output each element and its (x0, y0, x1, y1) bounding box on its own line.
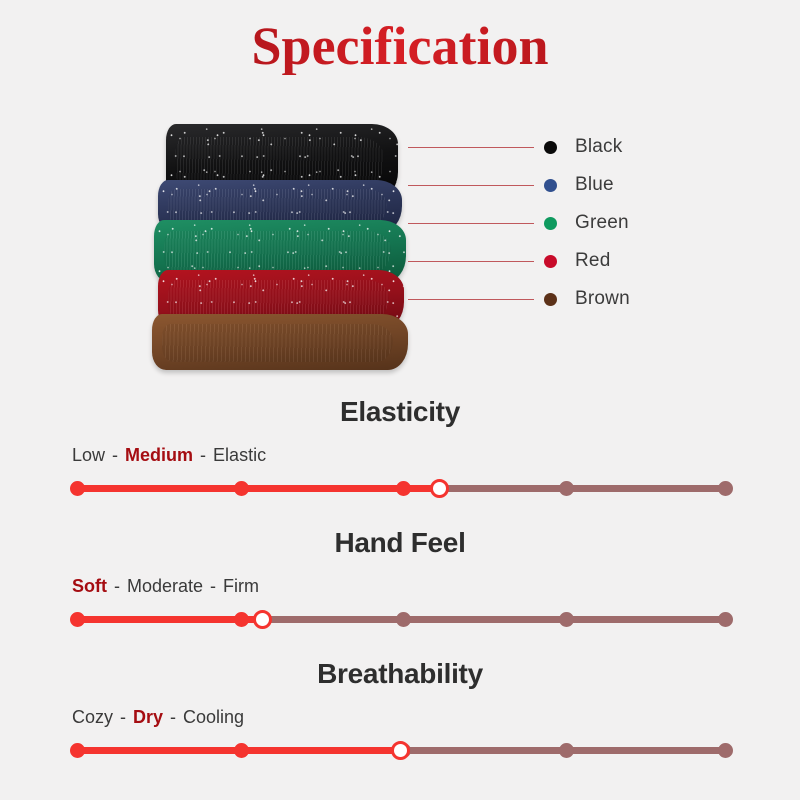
slider-tick-3[interactable] (396, 612, 411, 627)
scale-label-active: Medium (125, 445, 193, 465)
scale-label-active: Soft (72, 576, 107, 596)
leader-line-blue (408, 185, 534, 186)
legend-item-label: Blue (575, 174, 614, 196)
spec-title: Hand Feel (0, 526, 800, 560)
scale-label-left: Low (72, 445, 105, 465)
slider-tick-1[interactable] (70, 481, 85, 496)
slider-tick-2[interactable] (234, 481, 249, 496)
slider-tick-5[interactable] (718, 743, 733, 758)
scale-separator: - (113, 707, 133, 727)
spec-section-elasticity: Elasticity Low - Medium - Elastic (0, 395, 800, 498)
product-color-overview: Black Blue Green Red Brown (0, 110, 800, 370)
scale-separator: - (193, 445, 213, 465)
spec-scale-labels: Low - Medium - Elastic (0, 443, 800, 467)
slider-tick-1[interactable] (70, 612, 85, 627)
legend-item-label: Brown (575, 288, 630, 310)
slider-tick-3[interactable] (396, 481, 411, 496)
scale-label-right: Elastic (213, 445, 266, 465)
spec-section-hand-feel: Hand Feel Soft - Moderate - Firm (0, 526, 800, 629)
spec-section-breathability: Breathability Cozy - Dry - Cooling (0, 657, 800, 760)
scale-label-right: Cooling (183, 707, 244, 727)
elasticity-slider[interactable] (72, 478, 728, 498)
legend-item-label: Red (575, 250, 610, 272)
leader-line-brown (408, 299, 534, 300)
legend-item-label: Green (575, 212, 629, 234)
slider-handle[interactable] (391, 741, 410, 760)
slider-tick-4[interactable] (559, 481, 574, 496)
legend-item-green[interactable]: Green (544, 212, 629, 234)
hand-feel-slider[interactable] (72, 609, 728, 629)
legend-item-blue[interactable]: Blue (544, 174, 614, 196)
legend-item-black[interactable]: Black (544, 136, 622, 158)
scale-separator: - (107, 576, 127, 596)
slider-tick-2[interactable] (234, 612, 249, 627)
leader-line-red (408, 261, 534, 262)
slider-tick-4[interactable] (559, 612, 574, 627)
brown-garment-layer (152, 314, 408, 370)
legend-item-red[interactable]: Red (544, 250, 610, 272)
slider-tick-1[interactable] (70, 743, 85, 758)
leader-line-black (408, 147, 534, 148)
spec-title: Breathability (0, 657, 800, 691)
scale-label-left: Cozy (72, 707, 113, 727)
leader-line-green (408, 223, 534, 224)
color-swatch-icon (544, 293, 557, 306)
slider-tick-2[interactable] (234, 743, 249, 758)
legend-item-label: Black (575, 136, 622, 158)
legend-item-brown[interactable]: Brown (544, 288, 630, 310)
scale-separator: - (203, 576, 223, 596)
slider-tick-5[interactable] (718, 481, 733, 496)
scale-separator: - (105, 445, 125, 465)
color-swatch-icon (544, 255, 557, 268)
spec-scale-labels: Cozy - Dry - Cooling (0, 705, 800, 729)
color-swatch-icon (544, 217, 557, 230)
color-swatch-icon (544, 141, 557, 154)
product-image (152, 118, 410, 350)
page-title: Specification (0, 18, 800, 75)
spec-title: Elasticity (0, 395, 800, 429)
scale-label-right: Firm (223, 576, 259, 596)
scale-separator: - (163, 707, 183, 727)
scale-label-active: Dry (133, 707, 163, 727)
slider-tick-4[interactable] (559, 743, 574, 758)
slider-handle[interactable] (430, 479, 449, 498)
slider-tick-5[interactable] (718, 612, 733, 627)
slider-handle[interactable] (253, 610, 272, 629)
spec-scale-labels: Soft - Moderate - Firm (0, 574, 800, 598)
breathability-slider[interactable] (72, 740, 728, 760)
scale-label-middle: Moderate (127, 576, 203, 596)
color-swatch-icon (544, 179, 557, 192)
slider-fill (72, 485, 439, 492)
